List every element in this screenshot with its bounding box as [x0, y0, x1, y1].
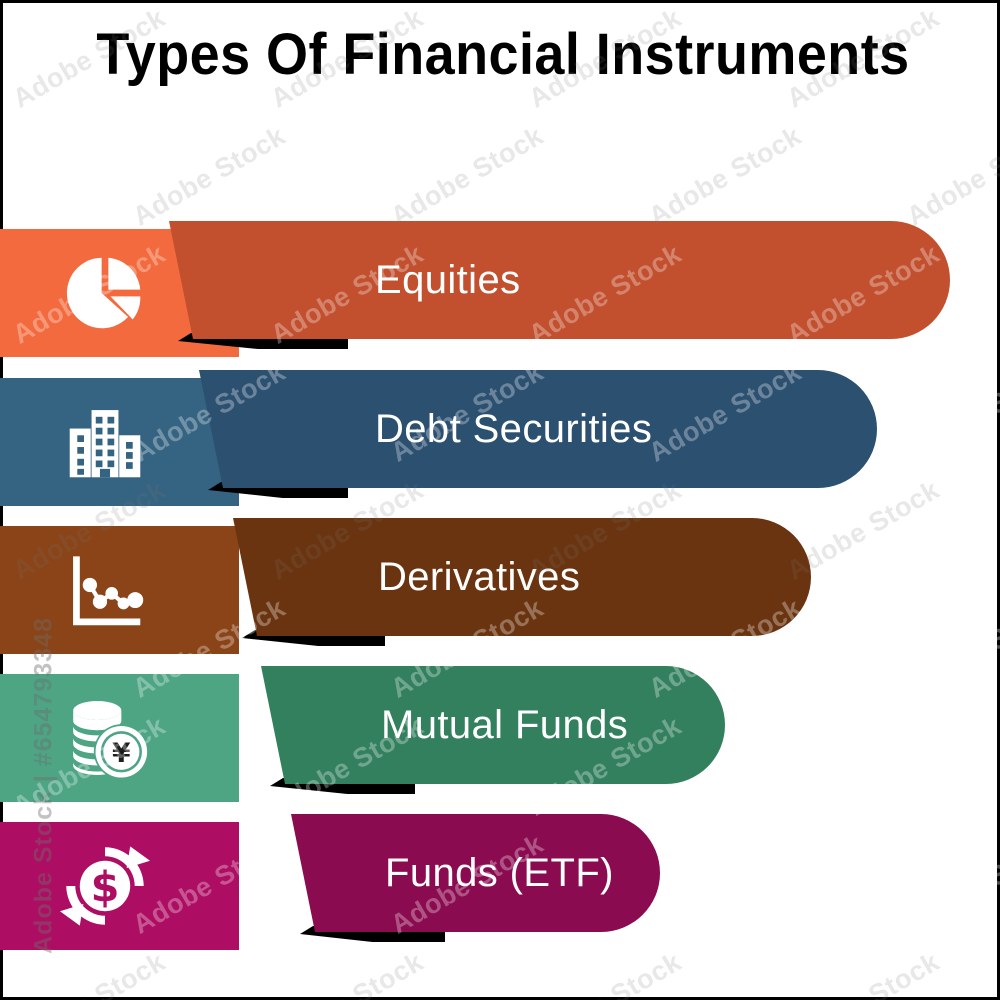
row-pill-debt-securities[interactable]: Debt Securities [199, 370, 877, 488]
watermark-tile: Adobe Stock [7, 946, 170, 1000]
watermark-tile: Adobe Stock [901, 120, 1000, 232]
row-pill-equities[interactable]: Equities [169, 221, 950, 339]
watermark-tile: Adobe Stock [781, 946, 944, 1000]
watermark-tile: Adobe Stock [523, 946, 686, 1000]
infographic-row-derivatives[interactable]: Derivatives [3, 518, 1000, 646]
row-label-debt-securities: Debt Securities [375, 370, 652, 488]
row-label-funds-etf: Funds (ETF) [385, 814, 614, 932]
row-label-derivatives: Derivatives [378, 518, 580, 636]
infographic-row-equities[interactable]: Equities [3, 221, 1000, 349]
watermark-tile: Adobe Stock [643, 120, 806, 232]
infographic-row-mutual-funds[interactable]: ¥ Mutual Funds [3, 666, 1000, 794]
row-pill-funds-etf[interactable]: Funds (ETF) [291, 814, 660, 932]
watermark-tile: Adobe Stock [385, 120, 548, 232]
row-pill-mutual-funds[interactable]: Mutual Funds [261, 666, 725, 784]
watermark-tile: Adobe Stock [265, 946, 428, 1000]
page-title: Types Of Financial Instruments [38, 21, 968, 88]
row-pill-derivatives[interactable]: Derivatives [233, 518, 811, 636]
infographic-row-debt-securities[interactable]: Debt Securities [3, 370, 1000, 498]
watermark-tile: Adobe Stock [127, 120, 290, 232]
infographic-canvas: Types Of Financial Instruments Equities [0, 0, 1000, 1000]
row-label-mutual-funds: Mutual Funds [381, 666, 628, 784]
row-label-equities: Equities [375, 221, 521, 339]
infographic-row-funds-etf[interactable]: $ Funds (ETF) [3, 814, 1000, 942]
